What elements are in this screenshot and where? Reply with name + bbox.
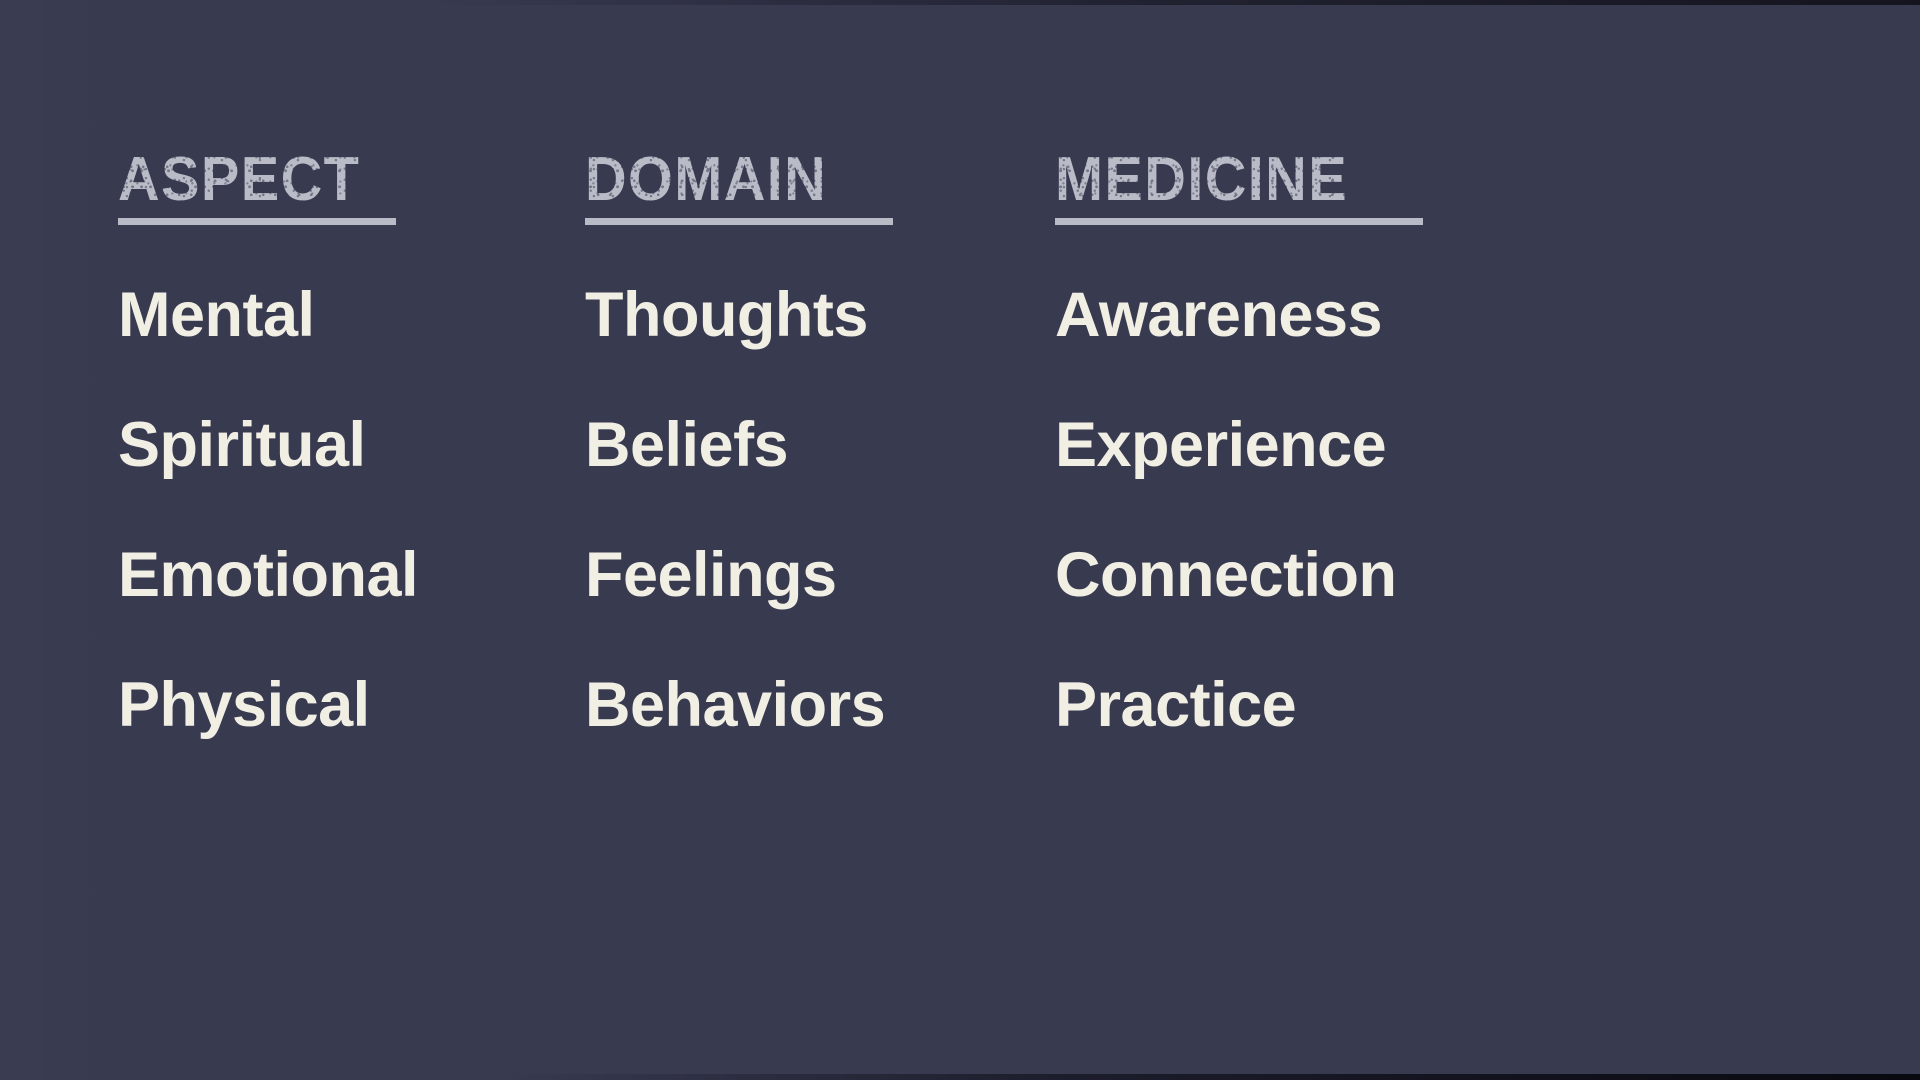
list-item: Thoughts (585, 284, 885, 414)
three-column-board: ASPECT Mental Spiritual Emotional Physic… (0, 0, 1920, 1080)
list-item: Beliefs (585, 414, 885, 544)
list-item: Emotional (118, 544, 418, 674)
column-header-medicine: MEDICINE (1055, 150, 1370, 225)
column-header-aspect: ASPECT (118, 150, 378, 225)
list-item: Mental (118, 284, 418, 414)
column-aspect: ASPECT Mental Spiritual Emotional Physic… (118, 150, 418, 804)
columns-container: ASPECT Mental Spiritual Emotional Physic… (0, 0, 1920, 1080)
column-header-label: MEDICINE (1055, 150, 1348, 211)
list-item: Practice (1055, 674, 1396, 804)
column-header-underline (585, 218, 893, 225)
list-item: Connection (1055, 544, 1396, 674)
column-items-aspect: Mental Spiritual Emotional Physical (118, 284, 418, 804)
list-item: Behaviors (585, 674, 885, 804)
list-item: Experience (1055, 414, 1396, 544)
column-domain: DOMAIN Thoughts Beliefs Feelings Behavio… (585, 150, 885, 804)
column-header-label: DOMAIN (585, 150, 827, 211)
list-item: Awareness (1055, 284, 1396, 414)
list-item: Feelings (585, 544, 885, 674)
column-header-underline (1055, 218, 1423, 225)
column-header-domain: DOMAIN (585, 150, 845, 225)
column-items-medicine: Awareness Experience Connection Practice (1055, 284, 1396, 804)
column-items-domain: Thoughts Beliefs Feelings Behaviors (585, 284, 885, 804)
column-header-label: ASPECT (118, 150, 360, 211)
column-header-underline (118, 218, 396, 225)
column-medicine: MEDICINE Awareness Experience Connection… (1055, 150, 1396, 804)
list-item: Physical (118, 674, 418, 804)
list-item: Spiritual (118, 414, 418, 544)
